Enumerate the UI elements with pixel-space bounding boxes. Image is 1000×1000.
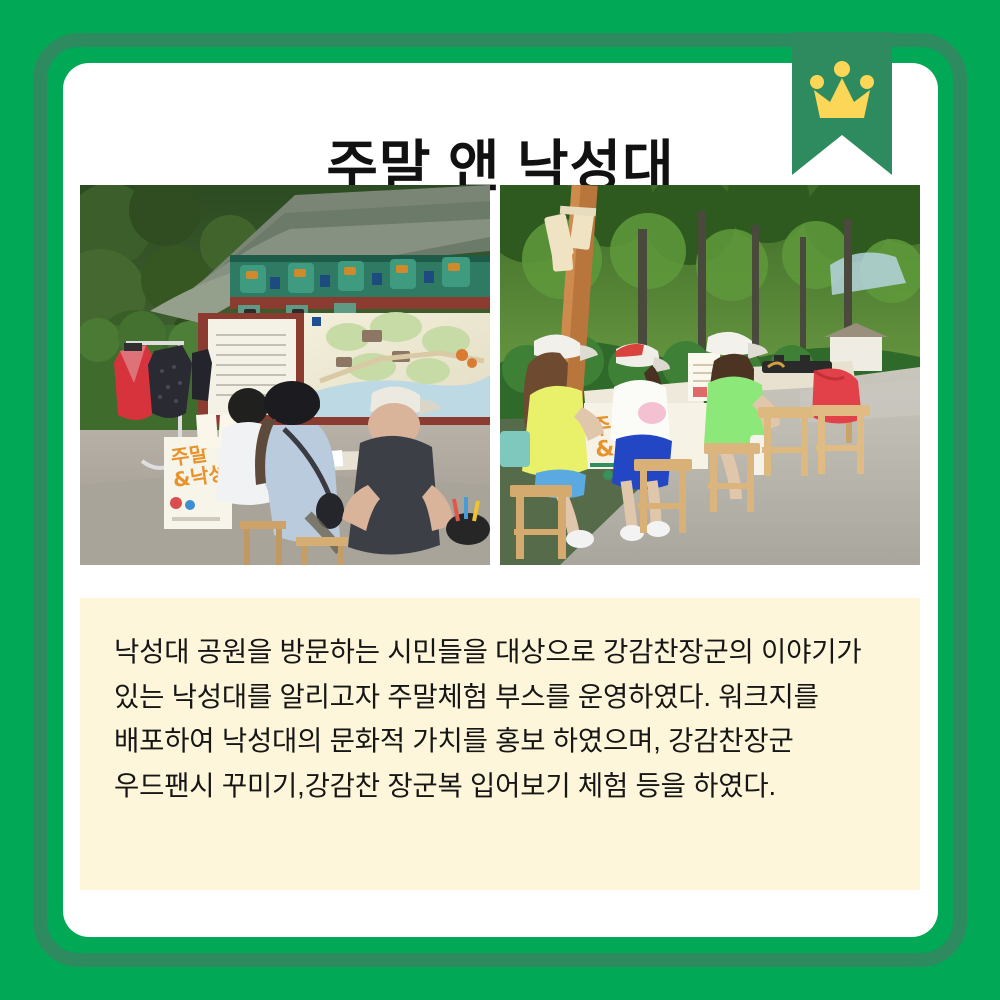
description-text: 낙성대 공원을 방문하는 시민들을 대상으로 강감찬장군의 이야기가 있는 낙성… [114, 630, 886, 808]
description-panel: 낙성대 공원을 방문하는 시민들을 대상으로 강감찬장군의 이야기가 있는 낙성… [80, 598, 920, 890]
photo-left: 주말 &낙성 [80, 185, 490, 565]
photo-gallery: 주말 &낙성 [80, 185, 920, 565]
content-card: 주말 앤 낙성대 [63, 63, 938, 937]
poster-canvas: 주말 앤 낙성대 [0, 0, 1000, 1000]
photo-right: 주말 &낙성 [500, 185, 920, 565]
crown-icon [810, 60, 874, 122]
